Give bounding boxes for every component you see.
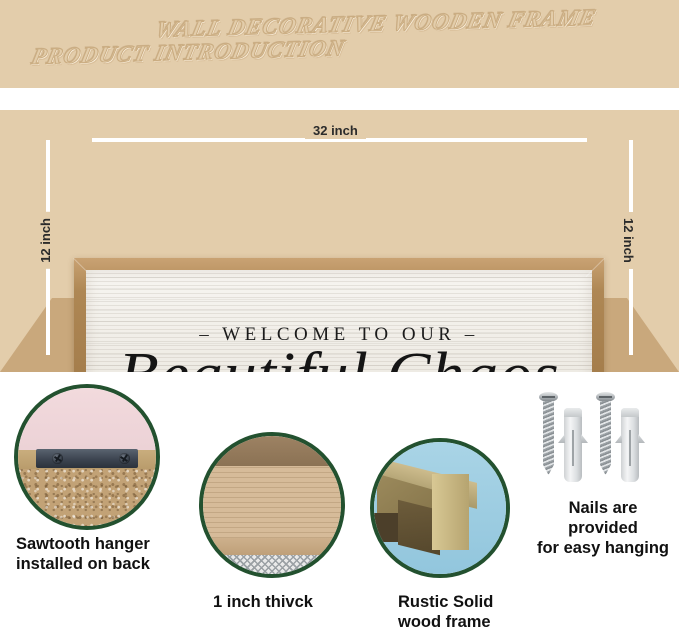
wall-anchor-icon-2 — [621, 408, 639, 482]
hanger-screw-left-icon — [52, 453, 63, 464]
hanger-screw-right-icon — [119, 453, 130, 464]
hero-product-section: – WELCOME TO OUR – Beautiful Chaos — [0, 110, 679, 372]
wall-anchor-icon-1 — [564, 408, 582, 482]
frame-face-right — [432, 474, 469, 551]
dimension-label-width: 32 inch — [305, 122, 366, 139]
screw-shaft-2 — [600, 401, 611, 475]
wood-band-grain — [203, 466, 341, 538]
wood-band-dark — [203, 436, 341, 466]
frame-inner-edge — [374, 513, 400, 542]
screw-icon-1 — [542, 392, 555, 480]
sign-script-text: Beautiful Chaos — [118, 344, 559, 372]
wooden-frame: – WELCOME TO OUR – Beautiful Chaos — [74, 258, 604, 372]
anchor-wing-left-2 — [615, 434, 622, 443]
mdf-backing-board — [18, 469, 156, 526]
dimension-label-height-right: 12 inch — [619, 212, 638, 269]
feature-image-rustic-frame — [370, 438, 510, 578]
wood-band-mid — [203, 538, 341, 555]
screw-head-1 — [539, 392, 558, 402]
feature-caption-sawtooth-hanger: Sawtooth hanger installed on back — [16, 534, 150, 574]
header-separator — [0, 88, 679, 110]
feature-caption-thickness: 1 inch thivck — [213, 592, 313, 612]
header-title-line-2: PRODUCT INTRODUCTION — [29, 35, 347, 70]
screw-shaft-1 — [543, 401, 554, 475]
header-title-line-1: WALL DECORATIVE WOODEN FRAME — [153, 5, 599, 43]
anchor-collar-1 — [564, 408, 582, 417]
anchor-slot-1 — [572, 430, 574, 466]
sign-board: – WELCOME TO OUR – Beautiful Chaos — [86, 270, 592, 372]
anchor-wing-right-1 — [581, 434, 588, 443]
anchor-slot-2 — [629, 430, 631, 466]
wall-background — [18, 388, 156, 450]
screw-head-2 — [596, 392, 615, 402]
screw-icon-2 — [599, 392, 612, 480]
anchor-wing-left-1 — [558, 434, 565, 443]
feature-image-nails — [537, 386, 661, 482]
feature-caption-rustic-frame: Rustic Solid wood frame — [398, 592, 493, 632]
header-banner: WALL DECORATIVE WOODEN FRAME PRODUCT INT… — [0, 0, 679, 88]
feature-image-thickness — [199, 432, 345, 578]
feature-caption-nails: Nails are provided for easy hanging — [533, 498, 673, 558]
anchor-wing-right-2 — [638, 434, 645, 443]
feature-image-sawtooth-hanger — [14, 384, 160, 530]
dimension-label-height-left: 12 inch — [36, 212, 55, 269]
anchor-collar-2 — [621, 408, 639, 417]
mesh-surface — [203, 555, 341, 574]
sawtooth-hanger-icon — [36, 449, 138, 468]
